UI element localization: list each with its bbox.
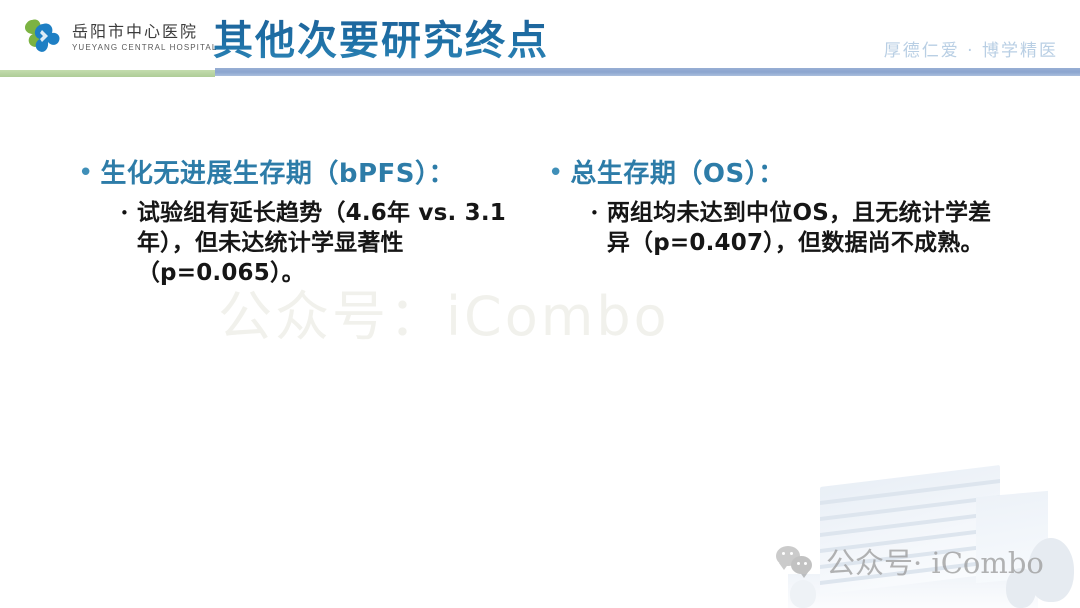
building-wing — [976, 491, 1048, 583]
sub-bullet-text: 试验组有延长趋势（4.6年 vs. 3.1年），但未达统计学显著性（p=0.06… — [137, 198, 527, 288]
bullet-dot-icon: • — [548, 158, 563, 188]
hospital-cross-logo-icon — [18, 16, 64, 58]
divider-green-segment — [0, 70, 215, 77]
bullet-heading-bpfs: • 生化无进展生存期（bPFS）： — [78, 158, 548, 190]
hospital-name-cn: 岳阳市中心医院 — [72, 22, 198, 41]
tree-shape — [790, 580, 816, 608]
hospital-logo-text: 岳阳市中心医院 YUEYANG CENTRAL HOSPITAL — [72, 22, 217, 52]
sub-bullet-bpfs: • 试验组有延长趋势（4.6年 vs. 3.1年），但未达统计学显著性（p=0.… — [120, 198, 548, 288]
bullet-heading-os: • 总生存期（OS）： — [548, 158, 1008, 190]
sub-bullet-dot-icon: • — [590, 198, 599, 228]
sub-bullet-os: • 两组均未达到中位OS，且无统计学差异（p=0.407），但数据尚不成熟。 — [590, 198, 1008, 258]
slide-canvas: 公众号：iCombo 岳阳市中心医院 YUEYANG CENTRAL HOSPI… — [0, 0, 1080, 608]
wechat-icon — [776, 546, 816, 576]
bullet-heading-text: 总生存期（OS）： — [570, 158, 784, 190]
wechat-watermark-text: 公众号· iCombo — [826, 540, 1044, 582]
divider-blue-segment — [215, 68, 1080, 76]
header-divider — [0, 68, 1080, 77]
building-lowrise — [788, 574, 1038, 608]
building-main — [820, 465, 1000, 595]
content-columns: • 生化无进展生存期（bPFS）： • 试验组有延长趋势（4.6年 vs. 3.… — [0, 158, 1080, 288]
tree-shape — [1028, 538, 1074, 602]
column-bpfs: • 生化无进展生存期（bPFS）： • 试验组有延长趋势（4.6年 vs. 3.… — [78, 158, 548, 288]
tree-shape — [1006, 568, 1036, 608]
page-title: 其他次要研究终点 — [213, 8, 549, 66]
hospital-motto: 厚德仁爱 · 博学精医 — [884, 36, 1058, 61]
sub-bullet-dot-icon: • — [120, 198, 129, 228]
wechat-watermark: 公众号· iCombo — [776, 540, 1044, 582]
slide-header: 岳阳市中心医院 YUEYANG CENTRAL HOSPITAL 其他次要研究终… — [0, 0, 1080, 72]
bullet-dot-icon: • — [78, 158, 93, 188]
hospital-building-background — [780, 423, 1080, 608]
sub-bullet-text: 两组均未达到中位OS，且无统计学差异（p=0.407），但数据尚不成熟。 — [607, 198, 997, 258]
hospital-logo: 岳阳市中心医院 YUEYANG CENTRAL HOSPITAL — [18, 16, 217, 58]
hospital-name-en: YUEYANG CENTRAL HOSPITAL — [72, 43, 217, 52]
column-os: • 总生存期（OS）： • 两组均未达到中位OS，且无统计学差异（p=0.407… — [548, 158, 1008, 288]
bullet-heading-text: 生化无进展生存期（bPFS）： — [100, 158, 455, 190]
